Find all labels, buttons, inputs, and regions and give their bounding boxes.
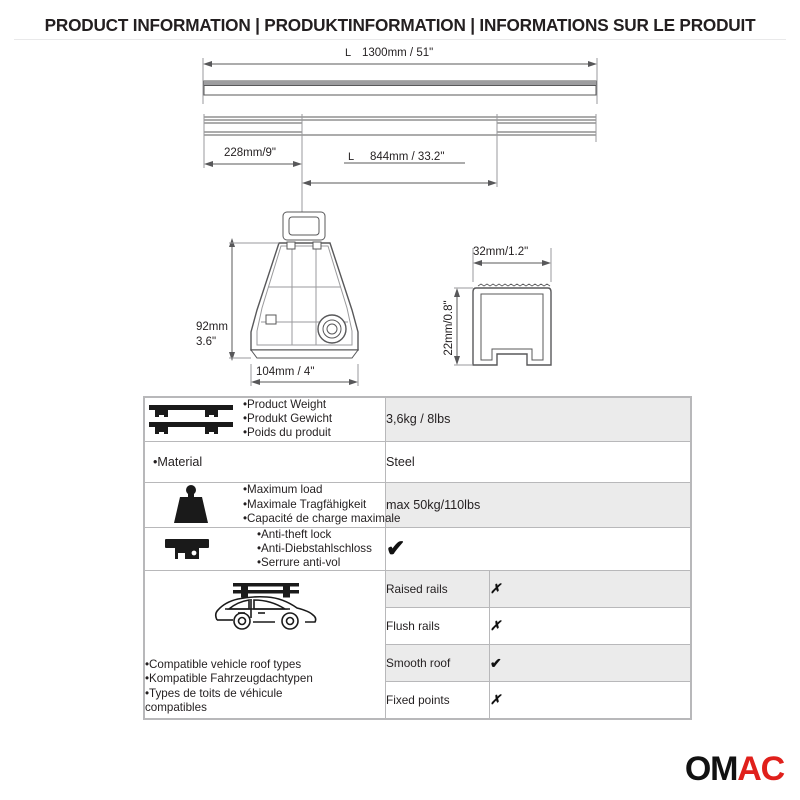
roof-option-mark: ✗ bbox=[490, 608, 691, 645]
omac-logo: OMAC bbox=[685, 752, 784, 786]
spec-value-material: Steel bbox=[386, 441, 691, 482]
roof-option-name: Smooth roof bbox=[386, 645, 490, 682]
spec-label-text: •Material bbox=[145, 455, 202, 469]
roof-option-mark: ✗ bbox=[490, 682, 691, 719]
cross-icon: ✗ bbox=[490, 581, 501, 596]
technical-drawing: L 1300mm / 51" 228mm/9" L 844mm / 33.2" … bbox=[0, 42, 800, 390]
roof-compatibility-label-cell: •Compatible vehicle roof types •Kompatib… bbox=[145, 571, 386, 719]
roof-option-mark: ✔ bbox=[490, 645, 691, 682]
roof-label-line: •Compatible vehicle roof types bbox=[145, 658, 385, 672]
roof-compatibility-text: •Compatible vehicle roof types •Kompatib… bbox=[145, 643, 385, 716]
spec-label-line: •Produkt Gewicht bbox=[243, 412, 332, 426]
cross-icon: ✗ bbox=[490, 692, 501, 707]
spec-label-line: •Anti-theft lock bbox=[257, 528, 372, 542]
table-row: •Compatible vehicle roof types •Kompatib… bbox=[145, 571, 691, 719]
spec-label-cell: •Maximum load •Maximale Tragfähigkeit •C… bbox=[145, 482, 386, 527]
roof-label-line: •Kompatible Fahrzeugdachtypen bbox=[145, 672, 385, 686]
profile-height-value: 22mm/0.8" bbox=[443, 300, 455, 355]
table-row: •Product Weight •Produkt Gewicht •Poids … bbox=[145, 398, 691, 442]
weight-icon bbox=[145, 483, 237, 527]
roof-option-name: Flush rails bbox=[386, 608, 490, 645]
overall-length-symbol: L bbox=[345, 47, 351, 59]
logo-text-ac: AC bbox=[737, 752, 784, 786]
roof-option-row: Fixed points ✗ bbox=[386, 682, 690, 719]
overall-length-value: 1300mm / 51" bbox=[362, 47, 433, 59]
spec-label-line: •Product Weight bbox=[243, 398, 332, 412]
spec-label-line: •Poids du produit bbox=[243, 426, 332, 440]
foot-height-value-mm: 92mm bbox=[196, 321, 228, 333]
spec-label-cell: •Anti-theft lock •Anti-Diebstahlschloss … bbox=[145, 527, 386, 571]
spec-label-line: •Capacité de charge maximale bbox=[243, 512, 400, 526]
spec-label-line: •Maximum load bbox=[243, 483, 400, 497]
roof-options-cell: Raised rails ✗ Flush rails ✗ bbox=[386, 571, 691, 719]
roof-option-row: Raised rails ✗ bbox=[386, 571, 690, 608]
checkmark-icon: ✔ bbox=[490, 655, 502, 671]
roof-option-row: Smooth roof ✔ bbox=[386, 645, 690, 682]
table-row: •Anti-theft lock •Anti-Diebstahlschloss … bbox=[145, 527, 691, 571]
spec-label-cell: •Material bbox=[145, 441, 386, 482]
bar-span-symbol: L bbox=[348, 151, 354, 163]
roof-option-name: Raised rails bbox=[386, 571, 490, 608]
bar-span-value: 844mm / 33.2" bbox=[370, 151, 444, 163]
spec-label-line: •Material bbox=[153, 455, 202, 469]
profile-width-value: 32mm/1.2" bbox=[473, 246, 528, 258]
spec-label-line: •Anti-Diebstahlschloss bbox=[257, 542, 372, 556]
foot-width-value: 104mm / 4" bbox=[256, 366, 314, 378]
checkmark-icon: ✔ bbox=[386, 535, 405, 561]
bar-offset-value: 228mm/9" bbox=[224, 147, 276, 159]
logo-text-om: OM bbox=[685, 752, 737, 786]
page-title: PRODUCT INFORMATION | PRODUKTINFORMATION… bbox=[45, 15, 756, 36]
header: PRODUCT INFORMATION | PRODUKTINFORMATION… bbox=[0, 10, 800, 40]
table-row: •Maximum load •Maximale Tragfähigkeit •C… bbox=[145, 482, 691, 527]
specification-table: •Product Weight •Produkt Gewicht •Poids … bbox=[143, 396, 692, 720]
table-row: •Material Steel bbox=[145, 441, 691, 482]
foot-height-value-in: 3.6" bbox=[196, 336, 216, 348]
roof-option-row: Flush rails ✗ bbox=[386, 608, 690, 645]
spec-label-text: •Maximum load •Maximale Tragfähigkeit •C… bbox=[243, 483, 400, 526]
spec-value-maximum-load: max 50kg/110lbs bbox=[386, 482, 691, 527]
spec-value-product-weight: 3,6kg / 8lbs bbox=[386, 398, 691, 442]
spec-value-anti-theft-lock: ✔ bbox=[386, 527, 691, 571]
spec-label-text: •Product Weight •Produkt Gewicht •Poids … bbox=[243, 398, 332, 441]
lock-icon bbox=[145, 529, 237, 569]
header-divider bbox=[14, 39, 786, 40]
roof-option-name: Fixed points bbox=[386, 682, 490, 719]
roof-label-line: •Types de toits de véhicule bbox=[145, 687, 385, 701]
spec-label-text: •Anti-theft lock •Anti-Diebstahlschloss … bbox=[243, 528, 372, 571]
product-information-sheet: PRODUCT INFORMATION | PRODUKTINFORMATION… bbox=[0, 0, 800, 800]
crossbars-icon bbox=[145, 399, 237, 439]
roof-option-mark: ✗ bbox=[490, 571, 691, 608]
spec-label-line: •Maximale Tragfähigkeit bbox=[243, 498, 400, 512]
spec-label-line: •Serrure anti-vol bbox=[257, 556, 372, 570]
car-with-rack-icon bbox=[145, 578, 385, 634]
roof-label-line: compatibles bbox=[145, 701, 385, 715]
spec-label-cell: •Product Weight •Produkt Gewicht •Poids … bbox=[145, 398, 386, 442]
cross-icon: ✗ bbox=[490, 618, 501, 633]
